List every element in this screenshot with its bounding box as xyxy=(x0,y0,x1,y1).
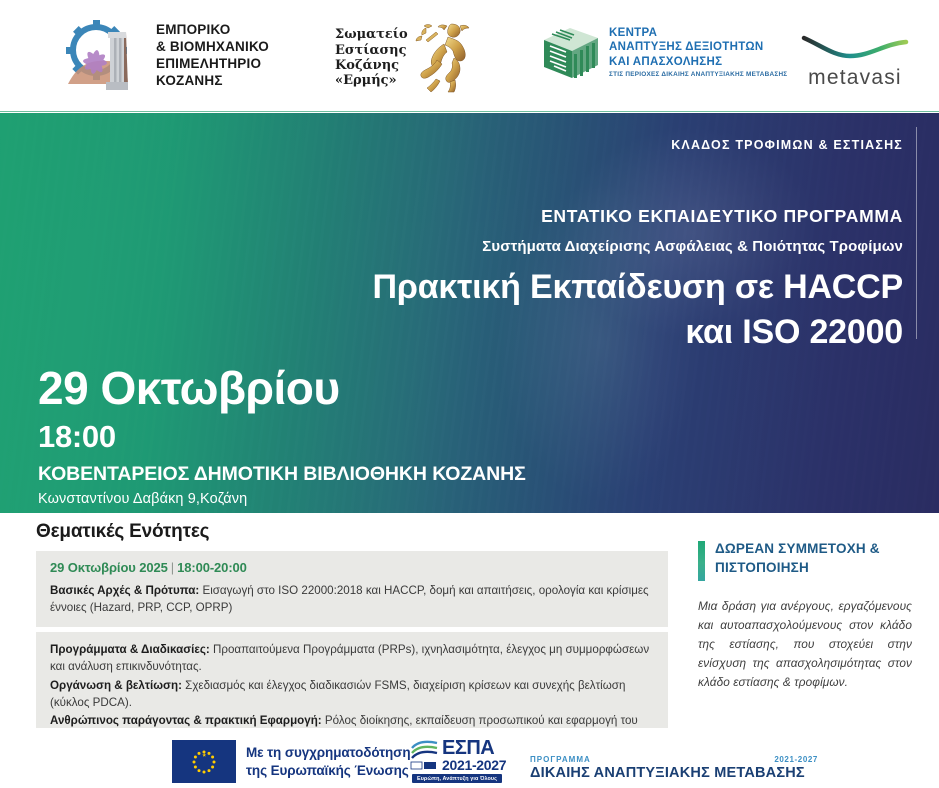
agenda-section: Θεματικές Ενότητες 29 Οκτωβρίου 2025|18:… xyxy=(36,521,668,757)
hero-title-line-1: Πρακτική Εκπαίδευση σε HACCP xyxy=(203,265,903,310)
eu-cofunding-line-1: Με τη συγχρηματοδότηση xyxy=(246,744,410,762)
espa-logo: ΕΣΠΑ 2021-2027 Ευρώπη, Ανάπτυξη για Όλου… xyxy=(410,737,508,785)
agenda-item-label: Οργάνωση & βελτίωση: xyxy=(50,679,182,692)
highlight-header: ΔΩΡΕΑΝ ΣΥΜΜΕΤΟΧΗ & ΠΙΣΤΟΠΟΙΗΣΗ xyxy=(698,539,912,581)
eu-cofunding-text: Με τη συγχρηματοδότηση της Ευρωπαϊκής Έν… xyxy=(246,744,410,780)
hermes-runner-icon xyxy=(414,22,476,94)
agenda-item: Οργάνωση & βελτίωση: Σχεδιασμός και έλεγ… xyxy=(50,677,654,711)
kentra-line-3: ΚΑΙ ΑΠΑΣΧΟΛΗΣΗΣ xyxy=(609,55,787,69)
event-venue: ΚΟΒΕΝΤΑΡΕΙΟΣ ΔΗΜΟΤΙΚΗ ΒΙΒΛΙΟΘΗΚΗ ΚΟΖΑΝΗΣ xyxy=(38,463,526,486)
event-date: 29 Οκτωβρίου xyxy=(38,361,340,415)
program-name: ΔΙΚΑΙΗΣ ΑΝΑΠΤΥΞΙΑΚΗΣ ΜΕΤΑΒΑΣΗΣ xyxy=(530,765,830,781)
agenda-item: Βασικές Αρχές & Πρότυπα: Εισαγωγή στο IS… xyxy=(50,582,654,616)
hero-title: Πρακτική Εκπαίδευση σε HACCP και ISO 220… xyxy=(203,265,903,355)
logo-metavasi: metavasi xyxy=(800,34,910,90)
ermis-line-3: Κοζάνης xyxy=(335,58,408,73)
kentra-subtitle: ΣΤΙΣ ΠΕΡΙΟΧΕΣ ΔΙΚΑΙΗΣ ΑΝΑΠΤΥΞΙΑΚΗΣ ΜΕΤΑΒ… xyxy=(609,71,787,78)
hero-title-line-2: και ISO 22000 xyxy=(203,310,903,355)
ermis-line-4: «Ερμής» xyxy=(335,73,408,88)
agenda-item-label: Προγράμματα & Διαδικασίες: xyxy=(50,643,210,656)
logo-chamber-of-kozani: ΕΜΠΟΡΙΚΟ & ΒΙΟΜΗΧΑΝΙΚΟ ΕΠΙΜΕΛΗΤΗΡΙΟ ΚΟΖΑ… xyxy=(62,18,269,94)
ermis-line-2: Εστίασης xyxy=(335,43,408,58)
session-date: 29 Οκτωβρίου 2025 xyxy=(50,560,168,575)
logo-somateio-estiasis-ermis: Σωματείο Εστίασης Κοζάνης «Ερμής» xyxy=(335,22,476,94)
session-separator: | xyxy=(168,560,177,575)
chamber-emblem-icon xyxy=(62,18,148,94)
highlight-body: Μια δράση για ανέργους, εργαζόμενους και… xyxy=(698,597,912,693)
espa-tagline: Ευρώπη, Ανάπτυξη για Όλους xyxy=(412,774,502,783)
event-time: 18:00 xyxy=(38,419,116,455)
kentra-line-1: ΚΕΝΤΡΑ xyxy=(609,26,787,40)
hero-subtitle-2: Συστήματα Διαχείρισης Ασφάλειας & Ποιότη… xyxy=(482,238,903,255)
ermis-line-1: Σωματείο xyxy=(335,27,408,42)
agenda-item: Προγράμματα & Διαδικασίες: Προαπαιτούμεν… xyxy=(50,641,654,675)
event-address: Κωνσταντίνου Δαβάκη 9,Κοζάνη xyxy=(38,491,247,507)
program-logo: ΠΡΟΓΡΑΜΜΑ 2021-2027 ΔΙΚΑΙΗΣ ΑΝΑΠΤΥΞΙΑΚΗΣ… xyxy=(530,755,830,781)
highlight-title: ΔΩΡΕΑΝ ΣΥΜΜΕΤΟΧΗ & ΠΙΣΤΟΠΟΙΗΣΗ xyxy=(715,539,912,577)
agenda-item-label: Βασικές Αρχές & Πρότυπα: xyxy=(50,584,199,597)
chamber-line-3: ΕΠΙΜΕΛΗΤΗΡΙΟ xyxy=(156,56,269,73)
logo-bar: ΕΜΠΟΡΙΚΟ & ΒΙΟΜΗΧΑΝΙΚΟ ΕΠΙΜΕΛΗΤΗΡΙΟ ΚΟΖΑ… xyxy=(0,0,939,112)
kentra-line-2: ΑΝΑΠΤΥΞΗΣ ΔΕΞΙΟΤΗΤΩΝ xyxy=(609,40,787,54)
espa-wave-icon xyxy=(410,738,440,772)
agenda-item-label: Ανθρώπινος παράγοντας & πρακτική Εφαρμογ… xyxy=(50,714,322,727)
hero-content: ΚΛΑΔΟΣ ΤΡΟΦΙΜΩΝ & ΕΣΤΙΑΣΗΣ ΕΝΤΑΤΙΚΟ ΕΚΠΑ… xyxy=(0,113,939,513)
highlight-box: ΔΩΡΕΑΝ ΣΥΜΜΕΤΟΧΗ & ΠΙΣΤΟΠΟΙΗΣΗ Μια δράση… xyxy=(698,539,912,693)
poster-root: ΕΜΠΟΡΙΚΟ & ΒΙΟΜΗΧΑΝΙΚΟ ΕΠΙΜΕΛΗΤΗΡΙΟ ΚΟΖΑ… xyxy=(0,0,939,788)
highlight-accent-bar xyxy=(698,541,705,581)
hero-kicker: ΚΛΑΔΟΣ ΤΡΟΦΙΜΩΝ & ΕΣΤΙΑΣΗΣ xyxy=(671,138,903,152)
hero-subtitle-1: ΕΝΤΑΤΙΚΟ ΕΚΠΑΙΔΕΥΤΙΚΟ ΠΡΟΓΡΑΜΜΑ xyxy=(541,206,903,227)
agenda-card: 29 Οκτωβρίου 2025|18:00-20:00 Βασικές Αρ… xyxy=(36,551,668,627)
session-time: 18:00-20:00 xyxy=(177,560,247,575)
eu-flag-icon xyxy=(172,740,236,783)
chamber-line-1: ΕΜΠΟΡΙΚΟ xyxy=(156,22,269,39)
ermis-logo-text: Σωματείο Εστίασης Κοζάνης «Ερμής» xyxy=(335,27,408,88)
logo-kentra-anaptyxis: ΚΕΝΤΡΑ ΑΝΑΠΤΥΞΗΣ ΔΕΞΙΟΤΗΤΩΝ ΚΑΙ ΑΠΑΣΧΟΛΗ… xyxy=(540,24,787,80)
body-area: Θεματικές Ενότητες 29 Οκτωβρίου 2025|18:… xyxy=(0,513,939,728)
hero-banner: ΚΛΑΔΟΣ ΤΡΟΦΙΜΩΝ & ΕΣΤΙΑΣΗΣ ΕΝΤΑΤΙΚΟ ΕΚΠΑ… xyxy=(0,113,939,513)
metavasi-wordmark: metavasi xyxy=(800,66,910,90)
metavasi-swoosh-icon xyxy=(800,34,910,60)
metavasi-logo-wrap: metavasi xyxy=(800,34,910,90)
chamber-logo-text: ΕΜΠΟΡΙΚΟ & ΒΙΟΜΗΧΑΝΙΚΟ ΕΠΙΜΕΛΗΤΗΡΙΟ ΚΟΖΑ… xyxy=(156,22,269,90)
agenda-title: Θεματικές Ενότητες xyxy=(36,521,668,543)
eu-cofunding-line-2: της Ευρωπαϊκής Ένωσης xyxy=(246,762,410,780)
kentra-logo-text: ΚΕΝΤΡΑ ΑΝΑΠΤΥΞΗΣ ΔΕΞΙΟΤΗΤΩΝ ΚΑΙ ΑΠΑΣΧΟΛΗ… xyxy=(609,26,787,78)
program-years: 2021-2027 xyxy=(774,755,818,764)
espa-years: 2021-2027 xyxy=(442,757,506,773)
chamber-line-2: & ΒΙΟΜΗΧΑΝΙΚΟ xyxy=(156,39,269,56)
kentra-emblem-icon xyxy=(540,24,602,80)
chamber-line-4: ΚΟΖΑΝΗΣ xyxy=(156,73,269,90)
session-header: 29 Οκτωβρίου 2025|18:00-20:00 xyxy=(50,560,654,575)
